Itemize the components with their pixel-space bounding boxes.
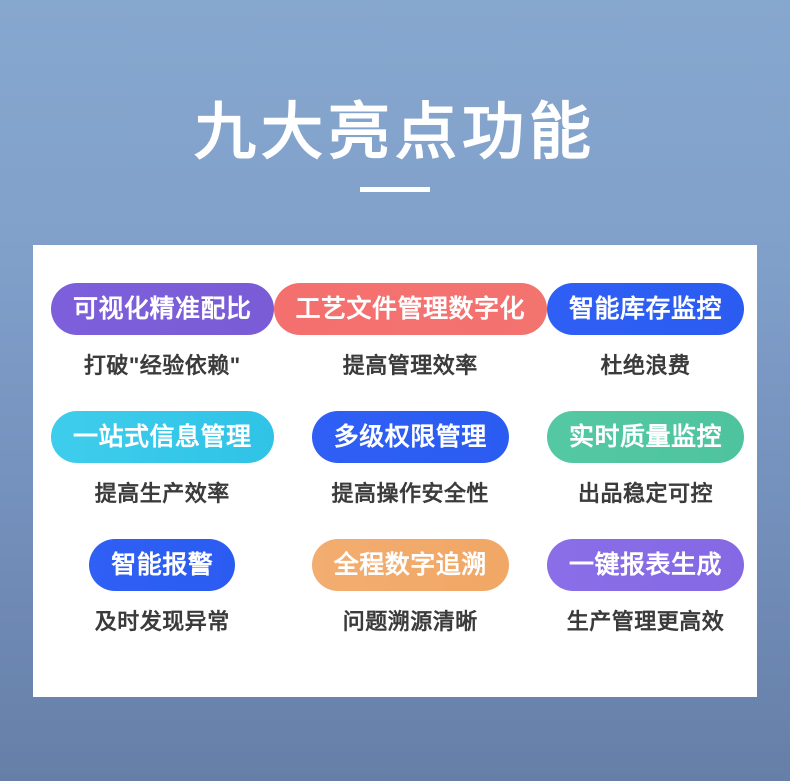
poster-header: 九大亮点功能: [0, 96, 790, 192]
feature-card-full-digital-traceability: 全程数字追溯 问题溯源清晰: [274, 539, 548, 636]
features-grid: 可视化精准配比 打破"经验依赖" 工艺文件管理数字化 提高管理效率 智能库存监控…: [51, 283, 739, 667]
feature-caption-smart-alarm: 及时发现异常: [95, 608, 230, 636]
page-title: 九大亮点功能: [0, 96, 790, 170]
feature-caption-realtime-quality-monitoring: 出品稳定可控: [578, 480, 713, 508]
feature-pill-realtime-quality-monitoring[interactable]: 实时质量监控: [547, 411, 744, 463]
feature-pill-one-stop-info-management[interactable]: 一站式信息管理: [51, 411, 274, 463]
feature-caption-multi-level-permission-management: 提高操作安全性: [332, 480, 490, 508]
feature-pill-visual-precise-ratio[interactable]: 可视化精准配比: [51, 283, 274, 335]
feature-card-realtime-quality-monitoring: 实时质量监控 出品稳定可控: [547, 411, 744, 508]
feature-card-one-stop-info-management: 一站式信息管理 提高生产效率: [51, 411, 274, 508]
feature-caption-one-stop-info-management: 提高生产效率: [95, 480, 230, 508]
feature-pill-smart-inventory-monitoring[interactable]: 智能库存监控: [547, 283, 744, 335]
feature-caption-visual-precise-ratio: 打破"经验依赖": [84, 352, 241, 380]
feature-pill-process-file-digitization[interactable]: 工艺文件管理数字化: [274, 283, 548, 335]
feature-card-multi-level-permission-management: 多级权限管理 提高操作安全性: [274, 411, 548, 508]
title-underline-divider: [360, 187, 430, 192]
features-panel: 可视化精准配比 打破"经验依赖" 工艺文件管理数字化 提高管理效率 智能库存监控…: [33, 245, 757, 697]
feature-pill-multi-level-permission-management[interactable]: 多级权限管理: [312, 411, 509, 463]
feature-pill-smart-alarm[interactable]: 智能报警: [89, 539, 235, 591]
promo-poster: 九大亮点功能 可视化精准配比 打破"经验依赖" 工艺文件管理数字化 提高管理效率…: [0, 0, 790, 781]
feature-caption-smart-inventory-monitoring: 杜绝浪费: [601, 352, 691, 380]
feature-caption-one-click-report-generation: 生产管理更高效: [567, 608, 725, 636]
feature-card-one-click-report-generation: 一键报表生成 生产管理更高效: [547, 539, 744, 636]
feature-pill-one-click-report-generation[interactable]: 一键报表生成: [547, 539, 744, 591]
feature-card-visual-precise-ratio: 可视化精准配比 打破"经验依赖": [51, 283, 274, 380]
feature-card-smart-inventory-monitoring: 智能库存监控 杜绝浪费: [547, 283, 744, 380]
feature-card-smart-alarm: 智能报警 及时发现异常: [51, 539, 274, 636]
feature-caption-process-file-digitization: 提高管理效率: [343, 352, 478, 380]
feature-pill-full-digital-traceability[interactable]: 全程数字追溯: [312, 539, 509, 591]
feature-caption-full-digital-traceability: 问题溯源清晰: [343, 608, 478, 636]
feature-card-process-file-digitization: 工艺文件管理数字化 提高管理效率: [274, 283, 548, 380]
